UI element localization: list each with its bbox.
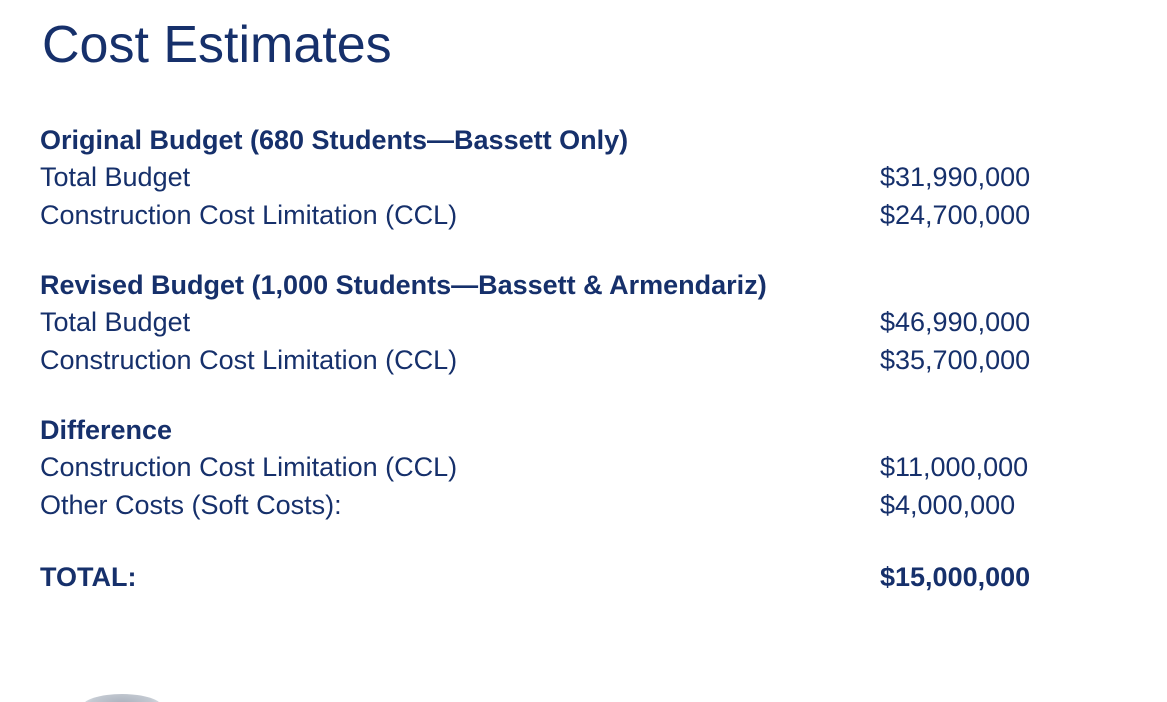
total-value: $15,000,000: [880, 557, 1030, 597]
cost-estimates-table: Original Budget (680 Students—Bassett On…: [40, 122, 1130, 597]
row-label: Other Costs (Soft Costs):: [40, 486, 342, 524]
row-value: $11,000,000: [880, 448, 1028, 486]
row-value: $24,700,000: [880, 196, 1030, 234]
row-value: $31,990,000: [880, 158, 1030, 196]
section-spacer: [40, 234, 1130, 267]
section-spacer: [40, 524, 1130, 557]
slide-canvas: Cost Estimates Original Budget (680 Stud…: [0, 0, 1167, 702]
section-heading-revised-budget: Revised Budget (1,000 Students—Bassett &…: [40, 267, 1130, 303]
table-row: Total Budget $46,990,000: [40, 303, 1130, 341]
row-label: Total Budget: [40, 303, 190, 341]
row-value: $46,990,000: [880, 303, 1030, 341]
section-original-budget: Original Budget (680 Students—Bassett On…: [40, 122, 1130, 234]
row-label: Construction Cost Limitation (CCL): [40, 341, 457, 379]
row-label: Total Budget: [40, 158, 190, 196]
section-spacer: [40, 379, 1130, 412]
table-row: Construction Cost Limitation (CCL) $24,7…: [40, 196, 1130, 234]
table-row: Construction Cost Limitation (CCL) $35,7…: [40, 341, 1130, 379]
page-title: Cost Estimates: [42, 14, 392, 76]
total-label: TOTAL:: [40, 557, 136, 597]
section-heading-original-budget: Original Budget (680 Students—Bassett On…: [40, 122, 1130, 158]
table-row: Total Budget $31,990,000: [40, 158, 1130, 196]
row-value: $35,700,000: [880, 341, 1030, 379]
row-value: $4,000,000: [880, 486, 1015, 524]
row-label: Construction Cost Limitation (CCL): [40, 448, 457, 486]
total-row: TOTAL: $15,000,000: [40, 557, 1130, 597]
section-heading-difference: Difference: [40, 412, 1130, 448]
section-difference: Difference Construction Cost Limitation …: [40, 412, 1130, 524]
section-revised-budget: Revised Budget (1,000 Students—Bassett &…: [40, 267, 1130, 379]
table-row: Other Costs (Soft Costs): $4,000,000: [40, 486, 1130, 524]
row-label: Construction Cost Limitation (CCL): [40, 196, 457, 234]
ellipse-shadow-decoration: [82, 694, 162, 702]
table-row: Construction Cost Limitation (CCL) $11,0…: [40, 448, 1130, 486]
